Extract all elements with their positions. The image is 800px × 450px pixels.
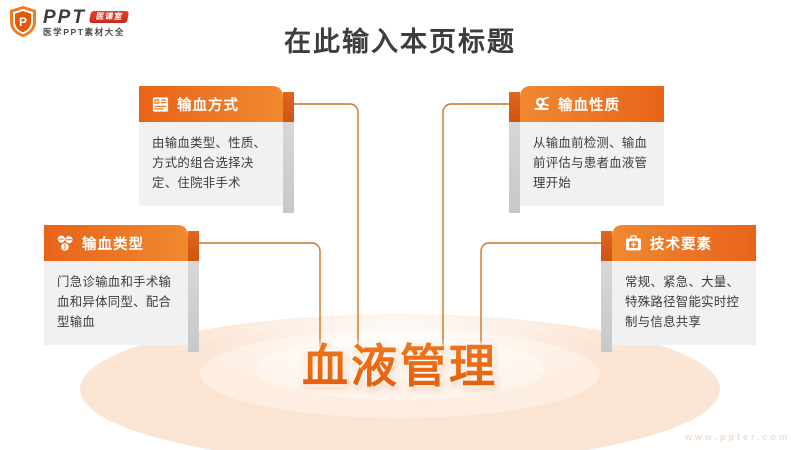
card-header: 输血方式 bbox=[139, 86, 283, 122]
medical-kit-icon bbox=[624, 234, 643, 253]
card-transfusion-type[interactable]: 输血类型 门急诊输血和手术输血和异体同型、配合型输血 bbox=[44, 225, 188, 345]
site-watermark: www.ppter.com bbox=[685, 432, 790, 442]
card-title: 技术要素 bbox=[650, 233, 712, 254]
card-3d-edge-top bbox=[283, 92, 294, 122]
pills-icon bbox=[56, 234, 75, 253]
card-header: 技术要素 bbox=[612, 225, 756, 261]
card-3d-edge-top bbox=[188, 231, 199, 261]
slide-canvas: P PPT 医课室 医学PPT素材大全 在此输入本页标题 输血方式 bbox=[0, 0, 800, 450]
card-title: 输血性质 bbox=[558, 94, 620, 115]
page-title: 在此输入本页标题 bbox=[0, 20, 800, 59]
card-body: 由输血类型、性质、方式的组合选择决定、住院非手术 bbox=[139, 122, 283, 206]
card-title: 输血方式 bbox=[177, 94, 239, 115]
card-3d-edge-top bbox=[509, 92, 520, 122]
card-3d-edge-body bbox=[283, 122, 294, 213]
card-header: 输血性质 bbox=[520, 86, 664, 122]
card-header: 输血类型 bbox=[44, 225, 188, 261]
microscope-icon bbox=[532, 95, 551, 114]
card-title: 输血类型 bbox=[82, 233, 144, 254]
card-3d-edge-top bbox=[601, 231, 612, 261]
card-technical-elements[interactable]: 技术要素 常规、紧急、大量、特殊路径智能实时控制与信息共享 bbox=[612, 225, 756, 345]
card-body: 从输血前检测、输血前评估与患者血液管理开始 bbox=[520, 122, 664, 206]
clipboard-icon bbox=[151, 95, 170, 114]
card-transfusion-method[interactable]: 输血方式 由输血类型、性质、方式的组合选择决定、住院非手术 bbox=[139, 86, 283, 206]
card-3d-edge-body bbox=[509, 122, 520, 213]
center-headline: 血液管理 bbox=[0, 330, 800, 396]
card-transfusion-nature[interactable]: 输血性质 从输血前检测、输血前评估与患者血液管理开始 bbox=[520, 86, 664, 206]
